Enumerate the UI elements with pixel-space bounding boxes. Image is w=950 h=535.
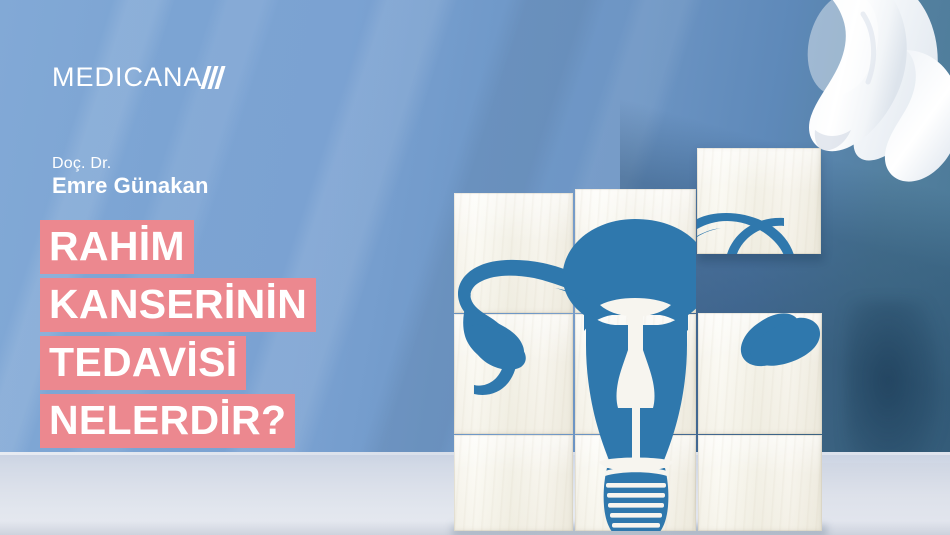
video-thumbnail: MEDICANA Doç. Dr. Emre Günakan RAHİM KAN… [0, 0, 950, 535]
block-row2-col2 [575, 314, 696, 434]
doctor-title: Doç. Dr. [52, 155, 208, 172]
block-row2-col1 [454, 314, 573, 434]
block-row3-col2 [575, 435, 696, 531]
block-row2-col3 [698, 313, 822, 434]
block-row1-col1 [454, 193, 573, 313]
brand-logo-text: MEDICANA [52, 64, 203, 91]
brand-logo: MEDICANA [52, 64, 225, 91]
block-row3-col1 [454, 435, 573, 531]
headline-line-4: NELERDİR? [40, 394, 295, 448]
headline-line-3: TEDAVİSİ [40, 336, 246, 390]
doctor-byline: Doç. Dr. Emre Günakan [52, 155, 208, 198]
gloved-hand [735, 0, 950, 210]
block-row1-col2 [575, 189, 696, 313]
headline-line-1: RAHİM [40, 220, 194, 274]
brand-logo-slashes-icon [204, 66, 225, 89]
headline-line-2: KANSERİNİN [40, 278, 316, 332]
headline: RAHİM KANSERİNİN TEDAVİSİ NELERDİR? [40, 220, 316, 452]
doctor-name: Emre Günakan [52, 174, 208, 198]
block-row3-col3 [698, 435, 822, 531]
